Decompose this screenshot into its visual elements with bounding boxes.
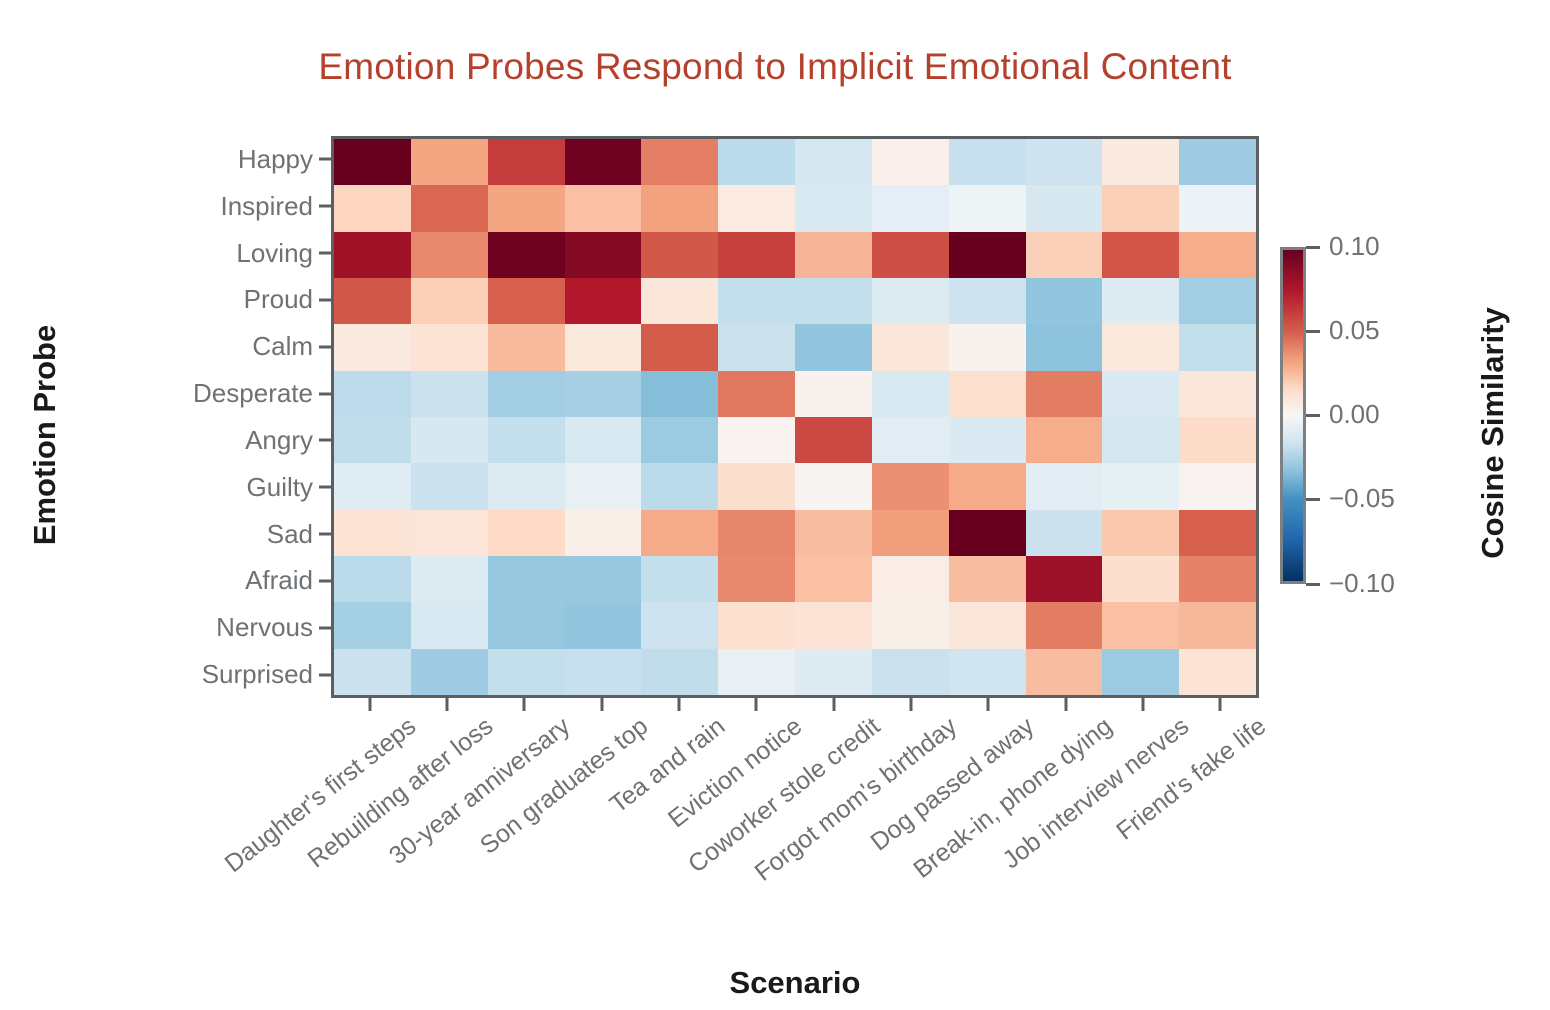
- colorbar-tick-value: −0.05: [1329, 483, 1395, 514]
- y-tick-10: [317, 604, 331, 651]
- heatmap-cell: [1179, 185, 1256, 231]
- heatmap-cell: [1102, 649, 1179, 695]
- heatmap-cell: [1026, 371, 1103, 417]
- y-tick-label-7: Guilty: [20, 464, 317, 511]
- x-tick-5: [718, 698, 795, 712]
- heatmap-cell: [334, 649, 411, 695]
- heatmap-cell: [1179, 556, 1256, 602]
- heatmap-cell: [795, 602, 872, 648]
- colorbar-tick-value: 0.10: [1329, 231, 1380, 262]
- heatmap-cell: [1026, 556, 1103, 602]
- heatmap-cell: [565, 649, 642, 695]
- heatmap-cell: [795, 556, 872, 602]
- heatmap-cell: [488, 510, 565, 556]
- x-axis-title: Scenario: [331, 965, 1259, 1001]
- heatmap-cell: [718, 185, 795, 231]
- heatmap-cell: [1102, 185, 1179, 231]
- y-tick-label-6: Angry: [20, 417, 317, 464]
- heatmap-cell: [1026, 139, 1103, 185]
- heatmap-cell: [1026, 278, 1103, 324]
- heatmap-cell: [565, 510, 642, 556]
- heatmap-cell: [488, 602, 565, 648]
- heatmap-cell: [488, 371, 565, 417]
- heatmap-cell: [795, 371, 872, 417]
- y-tick-label-8: Sad: [20, 511, 317, 558]
- y-tick-label-1: Inspired: [20, 183, 317, 230]
- heatmap-cell: [1026, 324, 1103, 370]
- heatmap-cell: [795, 278, 872, 324]
- heatmap-cell: [1102, 232, 1179, 278]
- heatmap-cell: [334, 510, 411, 556]
- heatmap-cell: [872, 463, 949, 509]
- heatmap-cell: [949, 510, 1026, 556]
- heatmap-cell: [488, 139, 565, 185]
- heatmap-cell: [1026, 463, 1103, 509]
- y-tick-0: [317, 136, 331, 183]
- x-tick-7: [872, 698, 949, 712]
- heatmap-cell: [1026, 649, 1103, 695]
- heatmap-cell: [565, 556, 642, 602]
- colorbar-tick-mark: [1306, 414, 1320, 417]
- heatmap-cell: [1102, 556, 1179, 602]
- heatmap-cell: [1102, 278, 1179, 324]
- heatmap-cell: [411, 232, 488, 278]
- heatmap-cell: [795, 324, 872, 370]
- heatmap-cell: [718, 139, 795, 185]
- heatmap-cell: [795, 139, 872, 185]
- heatmap-cell: [411, 556, 488, 602]
- heatmap-cell: [795, 463, 872, 509]
- y-tick-label-2: Loving: [20, 230, 317, 277]
- colorbar-tick-mark: [1306, 330, 1320, 333]
- x-tick-2: [486, 698, 563, 712]
- heatmap-cell: [1102, 417, 1179, 463]
- y-tick-label-11: Surprised: [20, 651, 317, 698]
- heatmap-cell: [949, 371, 1026, 417]
- heatmap-cell: [1026, 417, 1103, 463]
- heatmap-cell: [872, 602, 949, 648]
- heatmap-cell: [949, 232, 1026, 278]
- heatmap-cell: [334, 278, 411, 324]
- heatmap-cell: [488, 185, 565, 231]
- colorbar-gradient: [1280, 247, 1306, 584]
- heatmap-cell: [1179, 139, 1256, 185]
- heatmap-cell: [1179, 510, 1256, 556]
- heatmap-cell: [488, 556, 565, 602]
- colorbar-tick-mark: [1306, 246, 1320, 249]
- heatmap-cell: [641, 232, 718, 278]
- heatmap-cell: [411, 602, 488, 648]
- heatmap-cell: [1102, 510, 1179, 556]
- heatmap-cell: [872, 324, 949, 370]
- heatmap-cell: [565, 463, 642, 509]
- heatmap-cell: [565, 185, 642, 231]
- heatmap-cell: [411, 185, 488, 231]
- heatmap-cell: [1102, 602, 1179, 648]
- heatmap-cell: [718, 232, 795, 278]
- y-tick-9: [317, 557, 331, 604]
- heatmap-cell: [1179, 602, 1256, 648]
- heatmap-cell: [411, 463, 488, 509]
- heatmap-cell: [872, 278, 949, 324]
- y-tick-5: [317, 370, 331, 417]
- heatmap-cell: [1179, 463, 1256, 509]
- x-tick-11: [1182, 698, 1259, 712]
- heatmap-cell: [949, 139, 1026, 185]
- heatmap-cell: [411, 278, 488, 324]
- heatmap-cell: [1026, 510, 1103, 556]
- x-tick-9: [1027, 698, 1104, 712]
- heatmap-cell: [334, 139, 411, 185]
- heatmap-cell: [795, 417, 872, 463]
- heatmap-cell: [795, 649, 872, 695]
- colorbar-tick-value: 0.05: [1329, 315, 1380, 346]
- heatmap-cell: [718, 556, 795, 602]
- heatmap-cell: [641, 556, 718, 602]
- heatmap-cell: [718, 324, 795, 370]
- heatmap-cell: [1102, 324, 1179, 370]
- colorbar-tick-value: 0.00: [1329, 399, 1380, 430]
- heatmap-cell: [718, 278, 795, 324]
- colorbar-tick-mark: [1306, 498, 1320, 501]
- heatmap-cell: [872, 371, 949, 417]
- y-tick-6: [317, 417, 331, 464]
- heatmap-cell: [718, 602, 795, 648]
- heatmap-cell: [641, 185, 718, 231]
- colorbar-tick-mark: [1306, 583, 1320, 586]
- heatmap-grid: [334, 139, 1256, 695]
- y-tick-11: [317, 651, 331, 698]
- heatmap-cell: [334, 417, 411, 463]
- heatmap-cell: [488, 278, 565, 324]
- x-tick-6: [795, 698, 872, 712]
- heatmap-cell: [872, 417, 949, 463]
- heatmap-cell: [1179, 649, 1256, 695]
- heatmap-cell: [641, 463, 718, 509]
- colorbar-title: Cosine Similarity: [1475, 198, 1511, 668]
- y-tick-7: [317, 464, 331, 511]
- heatmap-cell: [949, 185, 1026, 231]
- heatmap-cell: [488, 463, 565, 509]
- heatmap-cell: [1026, 602, 1103, 648]
- figure: Emotion Probes Respond to Implicit Emoti…: [0, 0, 1550, 1010]
- heatmap-cell: [872, 185, 949, 231]
- heatmap-cell: [334, 556, 411, 602]
- y-tick-label-10: Nervous: [20, 604, 317, 651]
- heatmap-cell: [565, 324, 642, 370]
- chart-title: Emotion Probes Respond to Implicit Emoti…: [0, 46, 1550, 88]
- heatmap-cell: [949, 278, 1026, 324]
- y-axis-tick-labels: HappyInspiredLovingProudCalmDesperateAng…: [20, 136, 317, 698]
- heatmap-cell: [334, 185, 411, 231]
- y-tick-1: [317, 183, 331, 230]
- heatmap-cell: [949, 324, 1026, 370]
- heatmap-cell: [1026, 185, 1103, 231]
- y-tick-label-0: Happy: [20, 136, 317, 183]
- heatmap-cell: [334, 602, 411, 648]
- x-tick-10: [1104, 698, 1181, 712]
- x-tick-8: [950, 698, 1027, 712]
- heatmap-cell: [949, 602, 1026, 648]
- heatmap-plot-area: [331, 136, 1259, 698]
- heatmap-cell: [641, 278, 718, 324]
- heatmap-cell: [949, 463, 1026, 509]
- heatmap-cell: [1102, 463, 1179, 509]
- heatmap-cell: [1179, 417, 1256, 463]
- x-tick-1: [408, 698, 485, 712]
- heatmap-cell: [949, 556, 1026, 602]
- heatmap-cell: [795, 185, 872, 231]
- x-tick-4: [640, 698, 717, 712]
- heatmap-cell: [565, 232, 642, 278]
- y-tick-2: [317, 230, 331, 277]
- heatmap-cell: [565, 602, 642, 648]
- heatmap-cell: [334, 371, 411, 417]
- heatmap-cell: [872, 649, 949, 695]
- heatmap-cell: [641, 649, 718, 695]
- heatmap-cell: [411, 324, 488, 370]
- heatmap-cell: [641, 417, 718, 463]
- heatmap-cell: [411, 417, 488, 463]
- y-tick-label-5: Desperate: [20, 370, 317, 417]
- heatmap-cell: [949, 417, 1026, 463]
- heatmap-cell: [334, 324, 411, 370]
- y-tick-3: [317, 276, 331, 323]
- x-axis-ticks: [331, 698, 1259, 712]
- heatmap-cell: [1026, 232, 1103, 278]
- heatmap-cell: [411, 371, 488, 417]
- heatmap-cell: [641, 371, 718, 417]
- x-tick-3: [563, 698, 640, 712]
- heatmap-cell: [718, 649, 795, 695]
- y-axis-ticks: [317, 136, 331, 698]
- heatmap-cell: [1102, 139, 1179, 185]
- heatmap-cell: [718, 463, 795, 509]
- heatmap-cell: [872, 139, 949, 185]
- heatmap-cell: [1179, 278, 1256, 324]
- heatmap-cell: [718, 510, 795, 556]
- heatmap-cell: [872, 232, 949, 278]
- heatmap-cell: [565, 139, 642, 185]
- heatmap-cell: [718, 371, 795, 417]
- heatmap-cell: [641, 510, 718, 556]
- heatmap-cell: [411, 649, 488, 695]
- heatmap-cell: [718, 417, 795, 463]
- heatmap-cell: [565, 278, 642, 324]
- y-tick-label-4: Calm: [20, 323, 317, 370]
- heatmap-cell: [565, 371, 642, 417]
- heatmap-cell: [1102, 371, 1179, 417]
- heatmap-cell: [488, 324, 565, 370]
- x-tick-0: [331, 698, 408, 712]
- colorbar-tick-value: −0.10: [1329, 568, 1395, 599]
- heatmap-cell: [411, 510, 488, 556]
- heatmap-cell: [334, 463, 411, 509]
- heatmap-cell: [1179, 371, 1256, 417]
- y-tick-4: [317, 323, 331, 370]
- heatmap-cell: [488, 232, 565, 278]
- heatmap-cell: [641, 324, 718, 370]
- heatmap-cell: [488, 417, 565, 463]
- heatmap-cell: [949, 649, 1026, 695]
- heatmap-cell: [334, 232, 411, 278]
- y-tick-label-3: Proud: [20, 276, 317, 323]
- heatmap-cell: [872, 510, 949, 556]
- heatmap-cell: [565, 417, 642, 463]
- heatmap-cell: [795, 510, 872, 556]
- heatmap-cell: [411, 139, 488, 185]
- heatmap-cell: [795, 232, 872, 278]
- heatmap-cell: [872, 556, 949, 602]
- heatmap-cell: [1179, 324, 1256, 370]
- heatmap-cell: [641, 602, 718, 648]
- heatmap-cell: [1179, 232, 1256, 278]
- y-tick-label-9: Afraid: [20, 557, 317, 604]
- y-tick-8: [317, 511, 331, 558]
- heatmap-cell: [641, 139, 718, 185]
- heatmap-cell: [488, 649, 565, 695]
- colorbar-tick-labels: 0.100.050.00−0.05−0.10: [1306, 247, 1426, 584]
